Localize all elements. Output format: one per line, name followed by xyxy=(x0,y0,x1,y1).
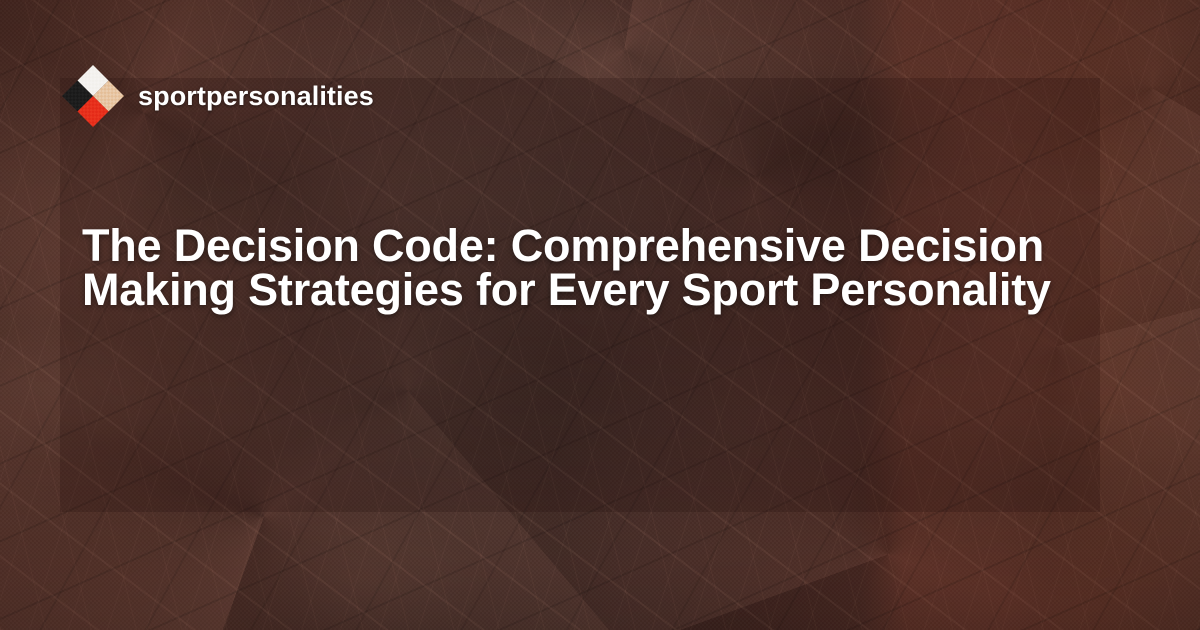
social-share-card: sportpersonalities The Decision Code: Co… xyxy=(0,0,1200,630)
brand-logo-diamond-icon[interactable] xyxy=(62,65,124,127)
brand-row[interactable]: sportpersonalities xyxy=(62,64,374,128)
logo-diamond-shape xyxy=(62,65,124,127)
brand-name: sportpersonalities xyxy=(138,81,374,112)
page-title: The Decision Code: Comprehensive Decisio… xyxy=(82,224,1092,312)
